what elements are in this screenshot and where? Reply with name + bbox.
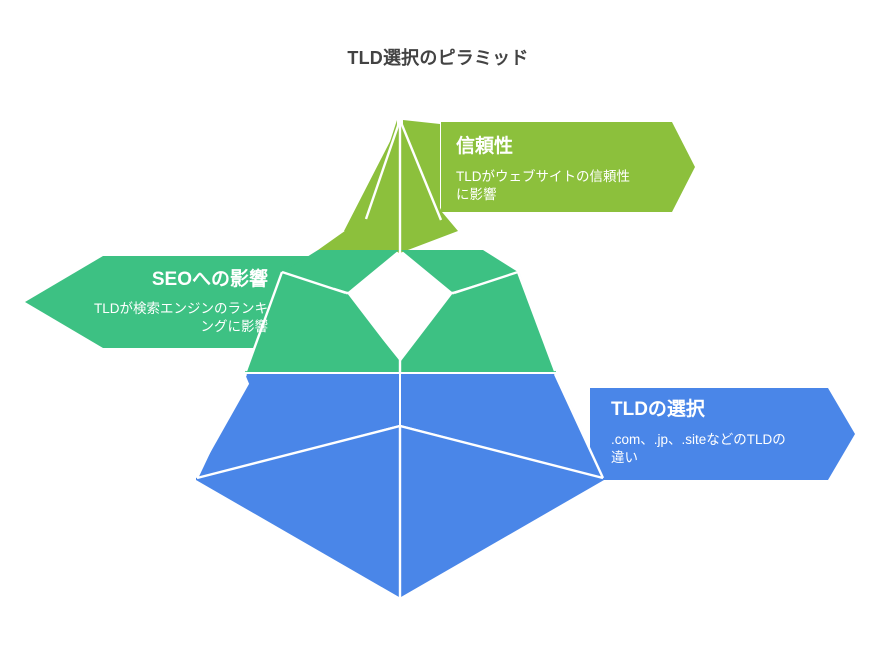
middle-tier-edge-front-left	[346, 293, 400, 294]
middle-tier-desc-line2: ングに影響	[201, 318, 269, 334]
middle-tier-edge-front-right	[400, 293, 454, 294]
bottom-tier-desc-line2: 違い	[611, 450, 638, 465]
middle-tier-front-right-face[interactable]	[401, 272, 556, 372]
top-tier-heading: 信頼性	[456, 134, 513, 157]
bottom-tier-desc-line1: .com、.jp、.siteなどのTLDの	[611, 432, 786, 447]
pyramid-graphic: 信頼性 TLDがウェブサイトの信頼性 に影響 SEOへの影響 TLDが検索エンジ…	[0, 0, 876, 651]
top-tier-desc-line2: に影響	[456, 186, 497, 202]
pyramid-diagram-canvas: TLD選択のピラミッド	[0, 0, 876, 651]
bottom-tier-heading: TLDの選択	[611, 398, 706, 420]
middle-tier-heading: SEOへの影響	[152, 267, 268, 290]
middle-tier-desc-line1: TLDが検索エンジンのランキ	[94, 301, 268, 316]
top-tier-desc-line1: TLDがウェブサイトの信頼性	[456, 168, 630, 184]
